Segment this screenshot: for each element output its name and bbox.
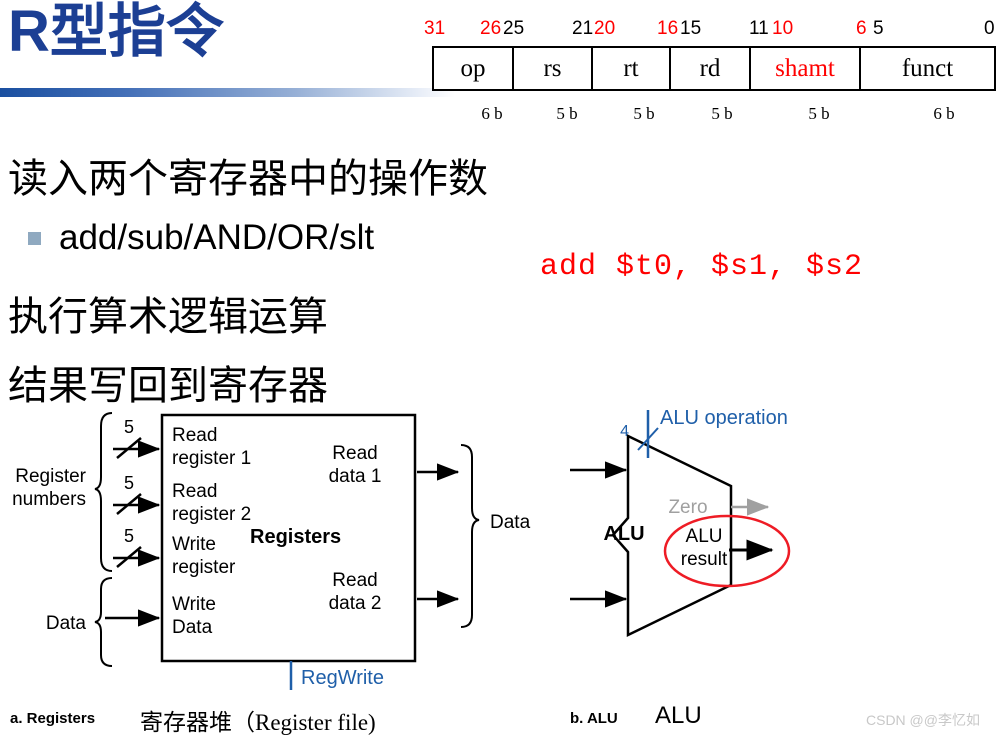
instruction-format-table: oprsrtrdshamtfunct [432,46,996,91]
field-width-rd: 5 b [692,104,752,124]
register-input-2-width: 5 [124,473,134,493]
watermark: CSDN @@李忆如 [866,710,980,730]
read-register-1-label-line2: register 1 [172,448,251,469]
read-register-2-label-line2: register 2 [172,504,251,525]
write-data-brace [95,578,112,666]
write-register-label-line2: register [172,557,236,578]
alu-body-label: ALU [603,523,644,545]
read-register-1-label-line1: Read [172,425,217,446]
read-data-2-label-line1: Read [332,570,377,591]
datapath-diagrams: 5 5 5 Read register 1 Read register 2 Wr… [0,400,1003,700]
caption-b-chinese: ALU [655,702,702,730]
field-width-shamt: 5 b [789,104,849,124]
read-register-2-label-line1: Read [172,481,217,502]
instruction-bit-positions: 312625212016151110650 [424,18,1003,44]
register-numbers-label-line2: numbers [12,489,86,510]
registers-box-title: Registers [250,526,341,548]
register-numbers-label-line1: Register [15,466,86,487]
register-input-1: 5 [113,417,159,458]
bit-position-21-3: 21 [572,18,593,40]
instruction-field-widths: 6 b5 b5 b5 b5 b6 b [424,104,1003,126]
caption-a-chinese: 寄存器堆（Register file) [140,703,376,737]
regwrite-label: RegWrite [301,667,384,689]
title-underline-bar [0,88,455,97]
bit-position-10-8: 10 [772,18,793,40]
read-data-brace-label: Data [490,512,531,533]
bit-position-31-0: 31 [424,18,445,40]
write-register-label-line1: Write [172,534,216,555]
bit-position-6-9: 6 [856,18,867,40]
field-width-rt: 5 b [614,104,674,124]
register-input-3: 5 [113,526,159,567]
read-data-1-label-line2: data 1 [329,466,382,487]
bit-position-15-6: 15 [680,18,701,40]
caption-a-registers: a. Registers [10,710,95,727]
write-data-brace-label: Data [46,613,87,634]
write-data-label-line1: Write [172,594,216,615]
bullet-item-label: add/sub/AND/OR/slt [59,218,374,258]
alu-operation-width-label: 4 [620,423,629,440]
bit-position-16-5: 16 [657,18,678,40]
instruction-field-shamt: shamt [751,48,861,89]
field-width-funct: 6 b [914,104,974,124]
body-line-1: 读入两个寄存器中的操作数 [8,146,488,204]
instruction-field-rt: rt [593,48,671,89]
page-title-latin: R [8,0,50,64]
register-numbers-brace [95,413,112,571]
register-input-3-width: 5 [124,526,134,546]
read-data-2-label-line2: data 2 [329,593,382,614]
register-input-1-width: 5 [124,417,134,437]
bit-position-26-1: 26 [480,18,501,40]
alu-result-label-line1: ALU [686,526,723,547]
read-data-1-label-line1: Read [332,443,377,464]
bit-position-5-10: 5 [873,18,884,40]
alu-zero-label: Zero [668,497,707,518]
instruction-field-funct: funct [861,48,994,89]
field-width-op: 6 b [462,104,522,124]
bullet-square-icon [28,232,41,245]
alu-result-label-line2: result [681,549,728,570]
page-title: R型指令 [8,2,224,63]
field-width-rs: 5 b [537,104,597,124]
instruction-field-op: op [434,48,514,89]
instruction-field-rd: rd [671,48,751,89]
bit-position-11-7: 11 [749,18,769,40]
instruction-field-rs: rs [514,48,593,89]
write-data-label-line2: Data [172,617,213,638]
bit-position-20-4: 20 [594,18,615,40]
alu-operation-label: ALU operation [660,407,788,429]
body-line-3: 执行算术逻辑运算 [8,284,328,342]
caption-b-alu: b. ALU [570,710,618,727]
read-data-brace [461,445,479,627]
bit-position-25-2: 25 [503,18,524,40]
register-input-2: 5 [113,473,159,514]
bit-position-0-11: 0 [984,18,995,40]
bullet-item-instructions: add/sub/AND/OR/slt [28,218,374,258]
page-title-cjk: 型指令 [50,0,224,64]
assembly-example-code: add $t0, $s1, $s2 [540,250,863,284]
